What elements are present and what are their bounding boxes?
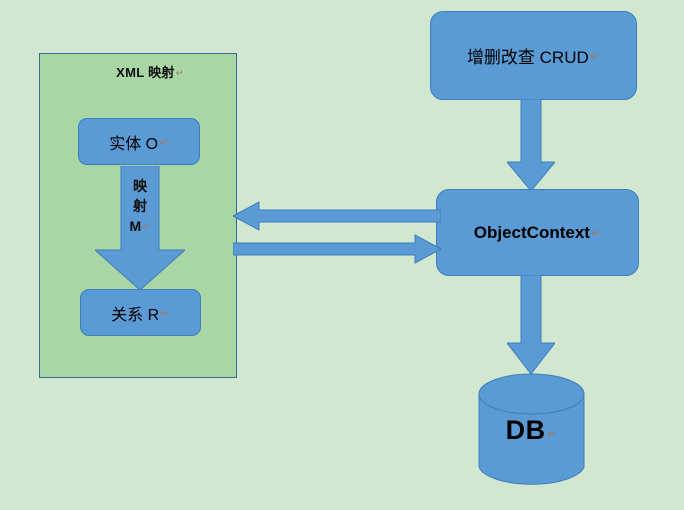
mapping-arrow-label-line-3: M↵ (95, 216, 185, 236)
return-mark-icon: ↵ (142, 222, 150, 233)
database-label: DB↵ (478, 415, 585, 446)
crud-node[interactable]: 增删改查 CRUD↵ (430, 11, 637, 100)
return-mark-icon: ↵ (159, 135, 169, 149)
xml-to-objectcontext-arrow-icon (233, 233, 441, 264)
objectcontext-node[interactable]: ObjectContext↵ (436, 189, 639, 276)
return-mark-icon: ↵ (176, 68, 184, 78)
objectcontext-to-xml-arrow-icon (233, 200, 441, 231)
mapping-arrow-label: 映 射 M↵ (95, 176, 185, 236)
xml-mapping-group-label-text: XML 映射 (116, 65, 175, 80)
relation-node[interactable]: 关系 R↵ (80, 289, 201, 336)
crud-to-objectcontext-arrow-icon (507, 99, 555, 191)
objectcontext-to-database-arrow-icon (507, 275, 555, 374)
database-label-text: DB (506, 415, 546, 445)
objectcontext-node-label: ObjectContext (474, 223, 590, 243)
diagram-canvas: XML 映射↵ 实体 O↵ 映 射 M↵ 关系 R↵ 增删改查 CRUD↵ Ob… (0, 0, 684, 510)
entity-node-label: 实体 O (109, 130, 158, 154)
relation-node-label: 关系 R (111, 301, 159, 325)
entity-node[interactable]: 实体 O↵ (78, 118, 200, 165)
return-mark-icon: ↵ (160, 306, 170, 320)
return-mark-icon: ↵ (591, 226, 601, 240)
xml-mapping-group-label: XML 映射↵ (39, 62, 237, 81)
mapping-arrow-label-line-2: 射 (95, 196, 185, 216)
return-mark-icon: ↵ (547, 427, 558, 441)
crud-node-label: 增删改查 CRUD (467, 43, 589, 68)
mapping-arrow-label-line-1: 映 (95, 176, 185, 196)
return-mark-icon: ↵ (590, 49, 600, 63)
mapping-arrow-label-line-3-text: M (129, 218, 141, 234)
